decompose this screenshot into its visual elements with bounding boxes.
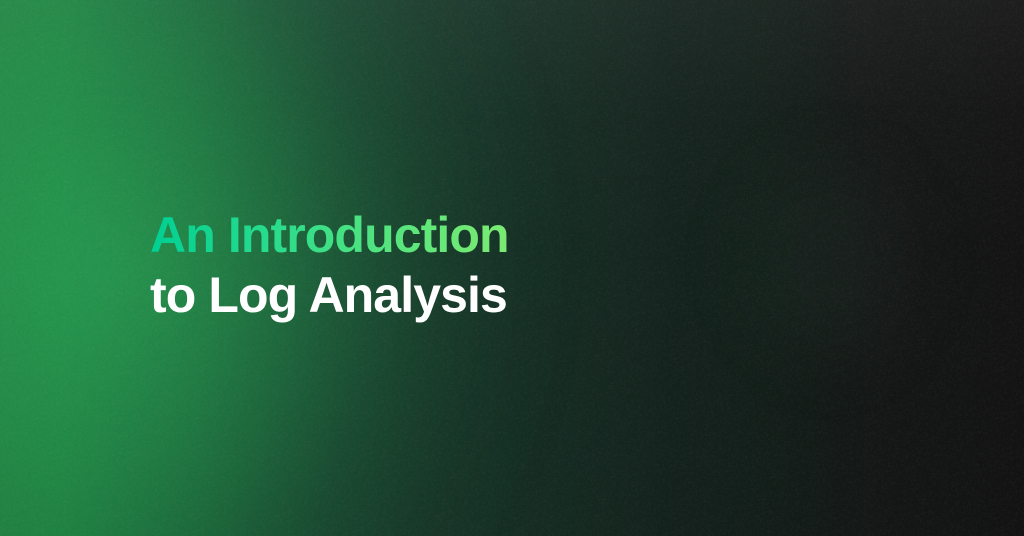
page-title-line-1: An Introduction: [150, 205, 509, 265]
hero-banner: An Introduction to Log Analysis: [0, 0, 1024, 536]
page-title: An Introduction to Log Analysis: [150, 205, 509, 325]
page-title-line-2: to Log Analysis: [150, 265, 509, 325]
